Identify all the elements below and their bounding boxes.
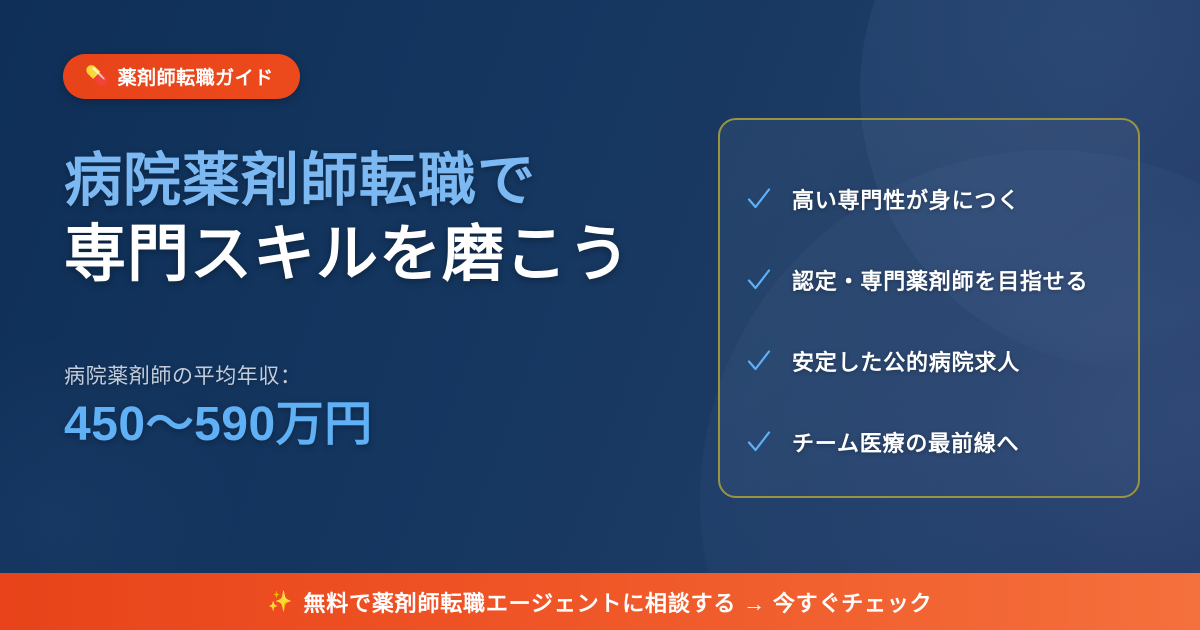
- cta-bar-label: 無料で薬剤師転職エージェントに相談する → 今すぐチェック: [303, 586, 932, 618]
- hero-banner: 💊 薬剤師転職ガイド 病院薬剤師転職で 専門スキルを磨こう 病院薬剤師の平均年収…: [0, 0, 1200, 630]
- list-item: 高い専門性が身につく: [746, 158, 1112, 239]
- list-item-label: 高い専門性が身につく: [792, 183, 1020, 215]
- salary-stat: 病院薬剤師の平均年収： 450〜590万円: [64, 362, 373, 453]
- sparkles-emoji-icon: ✨: [268, 592, 293, 612]
- list-item: 安定した公的病院求人: [746, 320, 1112, 401]
- check-icon: [746, 429, 772, 455]
- page-title: 病院薬剤師転職で 専門スキルを磨こう: [64, 146, 744, 294]
- check-icon: [746, 348, 772, 374]
- check-icon: [746, 186, 772, 212]
- list-item: 認定・専門薬剤師を目指せる: [746, 239, 1112, 320]
- category-badge-label: 薬剤師転職ガイド: [118, 63, 274, 90]
- check-icon: [746, 267, 772, 293]
- list-item-label: 認定・専門薬剤師を目指せる: [792, 264, 1088, 296]
- headline-line-2: 専門スキルを磨こう: [64, 217, 744, 294]
- salary-stat-label: 病院薬剤師の平均年収：: [64, 362, 373, 391]
- list-item: チーム医療の最前線へ: [746, 401, 1112, 482]
- salary-stat-value: 450〜590万円: [64, 397, 373, 452]
- list-item-label: 安定した公的病院求人: [792, 345, 1020, 377]
- cta-bar[interactable]: ✨ 無料で薬剤師転職エージェントに相談する → 今すぐチェック: [0, 573, 1200, 630]
- benefits-card: 高い専門性が身につく 認定・専門薬剤師を目指せる 安定した公的病院求人: [718, 118, 1140, 498]
- category-badge[interactable]: 💊 薬剤師転職ガイド: [63, 54, 300, 99]
- pill-emoji-icon: 💊: [85, 67, 109, 86]
- list-item-label: チーム医療の最前線へ: [792, 426, 1019, 458]
- headline-line-1: 病院薬剤師転職で: [64, 146, 744, 217]
